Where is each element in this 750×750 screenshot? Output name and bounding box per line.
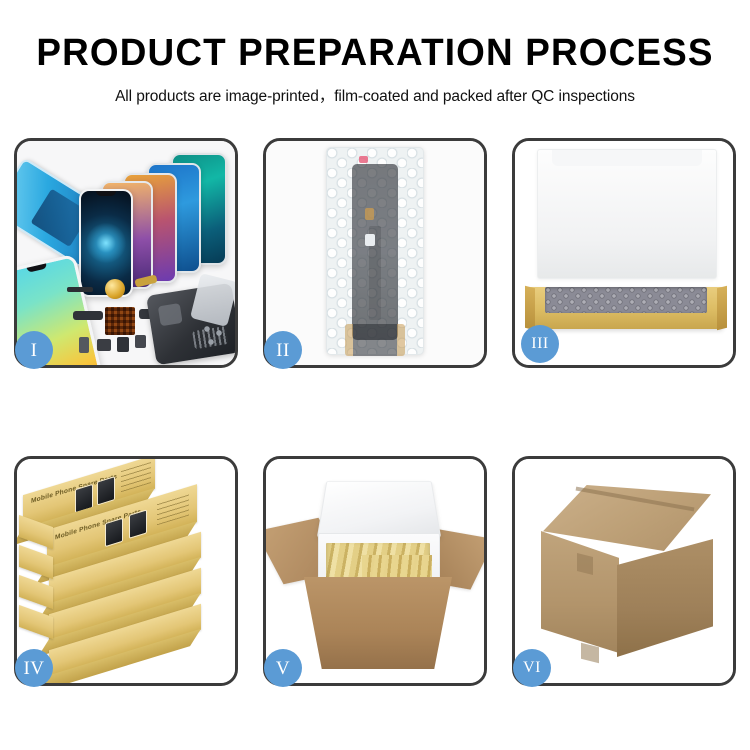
part-flex-strip <box>67 287 93 292</box>
step-panel-1: I <box>14 138 238 368</box>
kraft-box-phone-img-4 <box>129 509 147 539</box>
carton-side-face <box>617 539 713 657</box>
tan-connector-tab <box>365 208 374 220</box>
part-small-1 <box>79 337 89 353</box>
part-flex-cable-left <box>73 311 103 320</box>
phone-screen-black-front <box>79 189 133 297</box>
part-gold-speaker <box>105 279 125 299</box>
step-badge-3: III <box>521 325 559 363</box>
step-panel-2: II <box>263 138 487 368</box>
kraft-box-phone-img-3 <box>105 518 123 548</box>
styrofoam-lid <box>317 481 441 538</box>
lcd-flex-cable <box>345 324 405 356</box>
step-badge-6: VI <box>513 649 551 687</box>
pink-label-tab <box>359 156 368 163</box>
carton-body <box>304 577 452 669</box>
gray-foam-padding <box>545 287 707 313</box>
step-panel-3: III <box>512 138 736 368</box>
carton-front-face <box>541 531 619 653</box>
step-image-phone-screens-and-parts <box>17 141 235 365</box>
page-header: PRODUCT PREPARATION PROCESS All products… <box>0 0 750 106</box>
page-subtitle: All products are image-printed，film-coat… <box>0 84 750 106</box>
kraft-box-stack: Mobile Phone Spare Parts Mobile Phone Sp… <box>17 459 235 683</box>
repair-tool <box>190 273 235 327</box>
lcd-screen-inside-bag <box>352 164 398 340</box>
page-title: PRODUCT PREPARATION PROCESS <box>11 34 739 72</box>
step-badge-5: V <box>264 649 302 687</box>
part-small-4 <box>135 335 146 348</box>
step-panel-4: Mobile Phone Spare Parts Mobile Phone Sp… <box>14 456 238 686</box>
white-foam-lid <box>537 149 717 279</box>
step-image-stacked-kraft-boxes: Mobile Phone Spare Parts Mobile Phone Sp… <box>17 459 235 683</box>
part-screws <box>203 325 229 347</box>
step-badge-1: I <box>15 331 53 369</box>
step-badge-4: IV <box>15 649 53 687</box>
kraft-box-spec-lines-top <box>121 461 151 492</box>
step-image-bubble-wrap-packing <box>266 141 484 365</box>
carton-tape-upper <box>577 553 593 575</box>
bubble-wrap-bag <box>326 147 424 355</box>
step-panel-6: VI <box>512 456 736 686</box>
step-image-carton-with-foam-insert <box>266 459 484 683</box>
step-panel-5: V <box>263 456 487 686</box>
kraft-box-spec-lines-second <box>157 492 189 526</box>
carton-tape-lower <box>581 643 599 663</box>
part-small-3 <box>117 337 129 352</box>
step-image-sealed-shipping-carton <box>515 459 733 683</box>
product-preparation-process-page: PRODUCT PREPARATION PROCESS All products… <box>0 0 750 750</box>
part-connector-grid <box>105 307 135 335</box>
step-badge-2: II <box>264 331 302 369</box>
white-connector-tab <box>365 234 375 246</box>
part-small-2 <box>97 339 111 351</box>
process-steps-grid: I II III <box>14 138 736 686</box>
